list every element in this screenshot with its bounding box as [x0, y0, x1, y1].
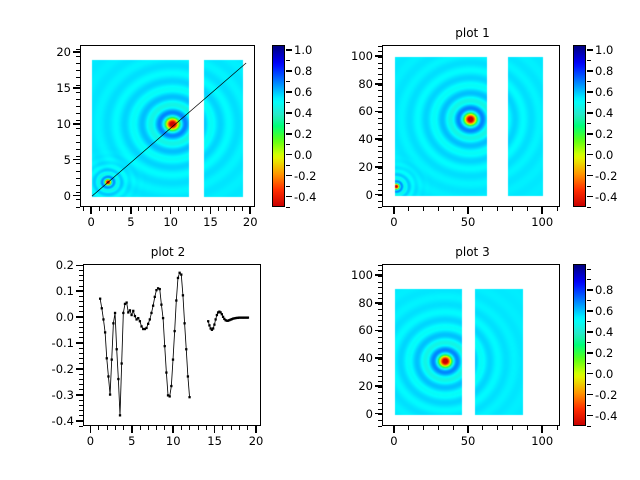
colorbar-minor-tick	[587, 144, 591, 145]
x-minor-tick	[122, 207, 123, 211]
data-point-marker	[214, 318, 216, 320]
x-tick-label: 0	[374, 215, 414, 229]
x-minor-tick	[164, 426, 165, 430]
data-point-marker	[99, 298, 101, 300]
data-point-marker	[165, 371, 167, 373]
axes-plot-1	[382, 45, 560, 207]
y-minor-tick	[378, 309, 382, 310]
x-minor-tick	[186, 207, 187, 211]
y-minor-tick	[79, 306, 83, 307]
y-minor-tick	[79, 301, 83, 302]
colorbar-minor-tick	[587, 311, 591, 312]
y-tick-label: -0.3	[30, 388, 74, 402]
colorbar-minor-tick	[587, 154, 591, 155]
y-minor-tick	[378, 51, 382, 52]
x-tick-label: 10	[153, 434, 193, 448]
colorbar-tick-label: 0.6	[595, 85, 635, 99]
data-point-marker	[247, 316, 249, 318]
x-minor-tick	[115, 207, 116, 211]
y-tick-label: 15	[27, 81, 71, 95]
colorbar-minor-tick	[587, 300, 591, 301]
x-minor-tick	[202, 207, 203, 211]
y-minor-tick	[76, 106, 80, 107]
colorbar-gradient-top-left	[273, 46, 284, 206]
data-point-marker	[129, 309, 131, 311]
y-minor-tick	[378, 46, 382, 47]
data-point-marker	[180, 273, 182, 275]
x-minor-tick	[393, 426, 394, 430]
x-minor-tick	[107, 426, 108, 430]
y-tick-label: 20	[329, 160, 373, 174]
data-point-marker	[187, 375, 189, 377]
x-minor-tick	[482, 207, 483, 211]
x-tick-label: 100	[522, 434, 562, 448]
subplot-bottom-left: plot 2 051015200.20.10.0-0.1-0.2-0.3-0.4	[0, 240, 320, 480]
x-minor-tick	[239, 426, 240, 430]
x-minor-tick	[99, 207, 100, 211]
y-minor-tick	[79, 270, 83, 271]
y-minor-tick	[79, 265, 83, 266]
colorbar-minor-tick	[286, 81, 290, 82]
x-tick-label: 20	[236, 434, 276, 448]
data-point-marker	[104, 331, 106, 333]
y-minor-tick	[79, 394, 83, 395]
y-tick-label: 5	[27, 153, 71, 167]
colorbar-minor-tick	[587, 112, 591, 113]
y-minor-tick	[378, 293, 382, 294]
y-minor-tick	[378, 207, 382, 208]
y-tick-label: -0.2	[30, 362, 74, 376]
data-point-marker	[207, 320, 209, 322]
y-minor-tick	[378, 426, 382, 427]
y-minor-tick	[378, 101, 382, 102]
data-point-marker	[121, 362, 123, 364]
colorbar-minor-tick	[587, 415, 591, 416]
data-point-marker	[111, 358, 113, 360]
subplot-title-plot-3: plot 3	[385, 245, 560, 259]
data-point-marker	[162, 317, 164, 319]
data-point-marker	[117, 378, 119, 380]
x-minor-tick	[83, 207, 84, 211]
data-point-marker	[154, 296, 156, 298]
x-minor-tick	[198, 426, 199, 430]
y-minor-tick	[378, 414, 382, 415]
colorbar-tick-label: 0.8	[595, 283, 635, 297]
y-minor-tick	[378, 57, 382, 58]
data-point-marker	[125, 301, 127, 303]
y-minor-tick	[79, 389, 83, 390]
y-minor-tick	[378, 74, 382, 75]
y-minor-tick	[378, 184, 382, 185]
data-point-marker	[145, 327, 147, 329]
colorbar-minor-tick	[286, 133, 290, 134]
y-minor-tick	[378, 107, 382, 108]
x-minor-tick	[512, 426, 513, 430]
data-point-marker	[170, 385, 172, 387]
data-point-marker	[169, 395, 171, 397]
data-point-marker	[102, 318, 104, 320]
x-minor-tick	[423, 426, 424, 430]
x-minor-tick	[107, 207, 108, 211]
heatmap-image-plot-1	[383, 46, 560, 207]
colorbar-minor-tick	[587, 165, 591, 166]
x-tick-label: 0	[71, 215, 111, 229]
y-minor-tick	[378, 140, 382, 141]
y-minor-tick	[79, 280, 83, 281]
y-minor-tick	[76, 63, 80, 64]
x-minor-tick	[123, 426, 124, 430]
data-point-marker	[212, 327, 214, 329]
y-tick-label: 40	[329, 351, 373, 365]
colorbar-tick-label: 0.8	[595, 64, 635, 78]
y-minor-tick	[378, 337, 382, 338]
colorbar-minor-tick	[587, 394, 591, 395]
colorbar-minor-tick	[286, 144, 290, 145]
y-minor-tick	[378, 63, 382, 64]
data-point-marker	[177, 277, 179, 279]
y-minor-tick	[378, 403, 382, 404]
y-minor-tick	[378, 398, 382, 399]
data-point-marker	[137, 317, 139, 319]
y-minor-tick	[378, 201, 382, 202]
y-minor-tick	[378, 320, 382, 321]
colorbar-minor-tick	[587, 81, 591, 82]
colorbar-minor-tick	[587, 92, 591, 93]
axes-plot-3	[382, 264, 560, 426]
colorbar-minor-tick	[286, 207, 290, 208]
x-minor-tick	[156, 426, 157, 430]
y-tick-label: 20	[329, 379, 373, 393]
x-minor-tick	[162, 207, 163, 211]
x-minor-tick	[557, 426, 558, 430]
y-minor-tick	[79, 311, 83, 312]
colorbar-tick-label: -0.4	[595, 190, 635, 204]
y-minor-tick	[378, 326, 382, 327]
y-minor-tick	[378, 392, 382, 393]
x-minor-tick	[497, 207, 498, 211]
subplot-top-left: 0510152005101520 1.00.80.60.40.20.0-0.2-…	[0, 0, 320, 240]
x-minor-tick	[527, 207, 528, 211]
x-minor-tick	[542, 207, 543, 211]
data-point-marker	[213, 323, 215, 325]
y-minor-tick	[378, 315, 382, 316]
colorbar-plot-3	[573, 264, 586, 426]
data-point-marker	[149, 318, 151, 320]
colorbar-minor-tick	[587, 331, 591, 332]
y-minor-tick	[378, 85, 382, 86]
line-path	[100, 273, 189, 416]
y-minor-tick	[378, 420, 382, 421]
y-minor-tick	[79, 368, 83, 369]
x-minor-tick	[438, 207, 439, 211]
y-minor-tick	[76, 156, 80, 157]
x-minor-tick	[527, 426, 528, 430]
y-minor-tick	[76, 120, 80, 121]
colorbar-minor-tick	[286, 71, 290, 72]
y-minor-tick	[79, 317, 83, 318]
y-minor-tick	[378, 129, 382, 130]
y-tick-label: 0.2	[30, 258, 74, 272]
y-minor-tick	[378, 68, 382, 69]
y-minor-tick	[76, 56, 80, 57]
colorbar-minor-tick	[587, 186, 591, 187]
y-tick-label: 0	[329, 188, 373, 202]
colorbar-minor-tick	[587, 352, 591, 353]
x-minor-tick	[557, 207, 558, 211]
x-minor-tick	[393, 207, 394, 211]
x-minor-tick	[468, 207, 469, 211]
data-point-marker	[164, 345, 166, 347]
colorbar-minor-tick	[286, 112, 290, 113]
colorbar-minor-tick	[286, 175, 290, 176]
y-minor-tick	[79, 322, 83, 323]
colorbar-tick-label: 1.0	[595, 43, 635, 57]
colorbar-gradient-plot-1	[574, 46, 585, 206]
y-minor-tick	[378, 282, 382, 283]
y-minor-tick	[76, 113, 80, 114]
x-minor-tick	[250, 207, 251, 211]
x-tick-label: 50	[448, 215, 488, 229]
y-minor-tick	[79, 348, 83, 349]
data-point-marker	[185, 348, 187, 350]
data-point-marker	[101, 307, 103, 309]
colorbar-tick-label: 0.2	[595, 346, 635, 360]
y-minor-tick	[76, 171, 80, 172]
y-minor-tick	[378, 146, 382, 147]
x-minor-tick	[542, 426, 543, 430]
x-minor-tick	[154, 207, 155, 211]
y-minor-tick	[378, 112, 382, 113]
colorbar-minor-tick	[587, 384, 591, 385]
x-tick-label: 50	[448, 434, 488, 448]
y-minor-tick	[79, 358, 83, 359]
subplot-title-plot-1: plot 1	[385, 26, 560, 40]
y-minor-tick	[79, 296, 83, 297]
y-minor-tick	[378, 370, 382, 371]
y-minor-tick	[76, 199, 80, 200]
y-tick-label: 40	[329, 132, 373, 146]
y-minor-tick	[378, 365, 382, 366]
y-tick-label: 100	[329, 268, 373, 282]
y-minor-tick	[79, 275, 83, 276]
y-minor-tick	[378, 173, 382, 174]
y-minor-tick	[76, 70, 80, 71]
colorbar-minor-tick	[286, 196, 290, 197]
data-point-marker	[127, 311, 129, 313]
colorbar-tick-label: 0.0	[595, 367, 635, 381]
y-minor-tick	[76, 178, 80, 179]
data-point-marker	[160, 304, 162, 306]
x-minor-tick	[423, 207, 424, 211]
x-tick-label: 10	[151, 215, 191, 229]
y-minor-tick	[79, 400, 83, 401]
y-minor-tick	[76, 135, 80, 136]
x-minor-tick	[130, 207, 131, 211]
x-tick-label: 0	[374, 434, 414, 448]
y-minor-tick	[76, 99, 80, 100]
colorbar-minor-tick	[587, 373, 591, 374]
x-minor-tick	[453, 207, 454, 211]
x-minor-tick	[497, 426, 498, 430]
y-minor-tick	[76, 142, 80, 143]
y-minor-tick	[378, 287, 382, 288]
colorbar-minor-tick	[587, 123, 591, 124]
y-minor-tick	[378, 135, 382, 136]
colorbar-minor-tick	[587, 196, 591, 197]
data-point-marker	[183, 322, 185, 324]
y-tick-label: 0	[329, 407, 373, 421]
data-point-marker	[122, 312, 124, 314]
x-minor-tick	[115, 426, 116, 430]
colorbar-tick-label: -0.2	[595, 169, 635, 183]
data-point-marker	[152, 305, 154, 307]
data-point-marker	[134, 315, 136, 317]
subplot-title-plot-2: plot 2	[78, 245, 258, 259]
colorbar-tick-label: -0.2	[595, 388, 635, 402]
y-minor-tick	[76, 192, 80, 193]
data-point-marker	[114, 312, 116, 314]
y-minor-tick	[378, 79, 382, 80]
y-tick-label: 0.0	[30, 310, 74, 324]
y-minor-tick	[378, 298, 382, 299]
x-minor-tick	[438, 426, 439, 430]
y-minor-tick	[76, 85, 80, 86]
x-tick-label: 20	[230, 215, 270, 229]
y-minor-tick	[79, 332, 83, 333]
y-minor-tick	[79, 410, 83, 411]
x-minor-tick	[148, 426, 149, 430]
y-major-tick	[73, 87, 80, 89]
y-minor-tick	[378, 304, 382, 305]
y-tick-label: 80	[329, 77, 373, 91]
y-major-tick	[73, 159, 80, 161]
data-point-marker	[107, 375, 109, 377]
colorbar-tick-label: 0.6	[595, 304, 635, 318]
colorbar-minor-tick	[286, 50, 290, 51]
data-point-marker	[188, 396, 190, 398]
y-minor-tick	[79, 415, 83, 416]
x-minor-tick	[173, 426, 174, 430]
y-major-tick	[73, 123, 80, 125]
colorbar-tick-label: 0.2	[595, 127, 635, 141]
y-minor-tick	[378, 96, 382, 97]
x-minor-tick	[247, 426, 248, 430]
x-minor-tick	[218, 207, 219, 211]
y-minor-tick	[378, 270, 382, 271]
y-minor-tick	[378, 409, 382, 410]
colorbar-minor-tick	[587, 279, 591, 280]
x-minor-tick	[178, 207, 179, 211]
y-minor-tick	[79, 374, 83, 375]
colorbar-minor-tick	[286, 186, 290, 187]
y-minor-tick	[378, 359, 382, 360]
subplot-bottom-right: plot 3 050100020406080100 0.80.60.40.20.…	[320, 240, 640, 480]
y-minor-tick	[378, 387, 382, 388]
colorbar-minor-tick	[286, 92, 290, 93]
colorbar-minor-tick	[286, 165, 290, 166]
colorbar-minor-tick	[587, 60, 591, 61]
axes-plot-2	[83, 264, 261, 426]
colorbar-minor-tick	[587, 133, 591, 134]
colorbar-tick-label: 0.4	[595, 106, 635, 120]
x-tick-label: 5	[112, 434, 152, 448]
y-minor-tick	[378, 381, 382, 382]
data-point-marker	[208, 324, 210, 326]
y-major-tick	[73, 195, 80, 197]
colorbar-minor-tick	[587, 269, 591, 270]
y-minor-tick	[79, 379, 83, 380]
colorbar-minor-tick	[587, 50, 591, 51]
x-minor-tick	[194, 207, 195, 211]
x-minor-tick	[181, 426, 182, 430]
y-minor-tick	[378, 123, 382, 124]
x-tick-label: 0	[70, 434, 110, 448]
y-tick-label: 100	[329, 49, 373, 63]
x-minor-tick	[242, 207, 243, 211]
data-point-marker	[119, 414, 121, 416]
y-tick-label: 0	[27, 189, 71, 203]
x-minor-tick	[222, 426, 223, 430]
y-minor-tick	[79, 343, 83, 344]
y-minor-tick	[378, 157, 382, 158]
y-minor-tick	[378, 168, 382, 169]
y-minor-tick	[76, 77, 80, 78]
x-minor-tick	[210, 207, 211, 211]
y-minor-tick	[79, 363, 83, 364]
data-point-marker	[175, 299, 177, 301]
colorbar-minor-tick	[587, 405, 591, 406]
colorbar-gradient-plot-3	[574, 265, 585, 425]
x-minor-tick	[256, 426, 257, 430]
y-minor-tick	[79, 405, 83, 406]
colorbar-minor-tick	[587, 175, 591, 176]
x-minor-tick	[408, 207, 409, 211]
y-minor-tick	[378, 354, 382, 355]
x-minor-tick	[482, 426, 483, 430]
data-point-marker	[132, 310, 134, 312]
y-minor-tick	[79, 426, 83, 427]
y-minor-tick	[79, 420, 83, 421]
colorbar-minor-tick	[587, 321, 591, 322]
y-minor-tick	[378, 331, 382, 332]
colorbar-minor-tick	[286, 102, 290, 103]
colorbar-minor-tick	[587, 102, 591, 103]
colorbar-minor-tick	[587, 426, 591, 427]
y-minor-tick	[79, 384, 83, 385]
y-major-tick	[73, 51, 80, 53]
heatmap-image-top-left	[81, 46, 255, 207]
y-minor-tick	[76, 128, 80, 129]
data-point-marker	[174, 330, 176, 332]
colorbar-plot-1	[573, 45, 586, 207]
y-minor-tick	[378, 190, 382, 191]
x-minor-tick	[226, 207, 227, 211]
colorbar-tick-label: 0.4	[595, 325, 635, 339]
colorbar-minor-tick	[587, 363, 591, 364]
x-minor-tick	[512, 207, 513, 211]
data-point-marker	[106, 357, 108, 359]
line-series-plot-2	[84, 265, 261, 426]
data-point-marker	[221, 313, 223, 315]
data-point-marker	[216, 314, 218, 316]
data-point-marker	[150, 312, 152, 314]
x-tick-label: 5	[111, 215, 151, 229]
x-minor-tick	[408, 426, 409, 430]
y-tick-label: 60	[329, 104, 373, 118]
x-minor-tick	[170, 207, 171, 211]
y-minor-tick	[378, 118, 382, 119]
y-minor-tick	[76, 185, 80, 186]
